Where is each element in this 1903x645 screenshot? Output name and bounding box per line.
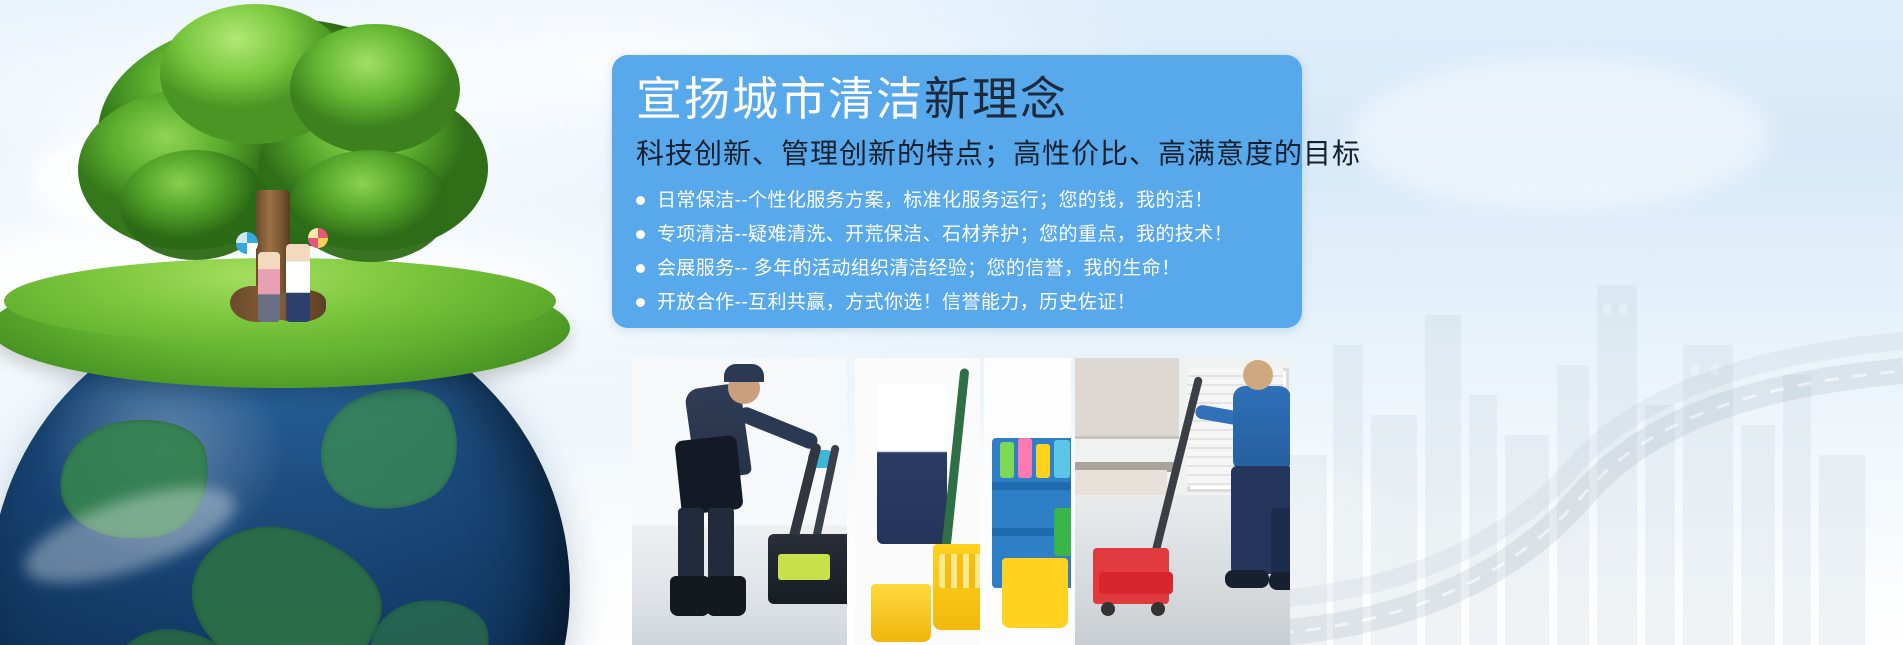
spray-bottle — [1054, 440, 1070, 478]
worker-torso — [1233, 386, 1290, 472]
list-item-label: 专项清洁--疑难清洗、开荒保洁、石材养护；您的重点，我的技术！ — [657, 221, 1233, 249]
photo-strip — [632, 358, 1290, 645]
worker-leg — [708, 508, 734, 582]
bucket-wheel — [1101, 602, 1115, 616]
machine-control-panel — [778, 554, 830, 580]
page-title: 宣扬城市清洁新理念 — [636, 72, 1436, 126]
worker-head — [1243, 360, 1273, 390]
bullet-dot-icon — [636, 264, 645, 273]
dustpan-icon — [1054, 508, 1071, 556]
worker-shoe — [1269, 572, 1290, 590]
worker-leg — [678, 508, 704, 582]
banner-stage: 宣扬城市清洁新理念 科技创新、管理创新的特点；高性价比、高满意度的目标 日常保洁… — [0, 0, 1903, 645]
worker-boot — [706, 576, 746, 616]
list-item: 会展服务-- 多年的活动组织清洁经验；您的信誉，我的生命！ — [636, 255, 1436, 283]
list-item-label: 会展服务-- 多年的活动组织清洁经验；您的信誉，我的生命！ — [657, 255, 1181, 283]
kitchen-cabinet — [1075, 358, 1179, 439]
pinwheel-icon — [236, 232, 258, 254]
earth-globe-illustration — [0, 0, 590, 645]
worker-shoe — [1225, 570, 1269, 588]
list-item: 日常保洁--个性化服务方案，标准化服务运行；您的钱，我的活！ — [636, 187, 1436, 215]
yellow-bucket — [871, 584, 931, 642]
child-figure — [258, 252, 280, 322]
tree-canopy — [290, 24, 460, 154]
pinwheel-icon — [308, 228, 328, 248]
mop-buckets-photo — [855, 358, 980, 645]
person-lower-body — [877, 384, 947, 544]
worker-boot — [670, 576, 710, 616]
list-item-label: 日常保洁--个性化服务方案，标准化服务运行；您的钱，我的活！ — [657, 187, 1214, 215]
title-rest: 新理念 — [924, 73, 1068, 125]
list-item: 专项清洁--疑难清洗、开荒保洁、石材养护；您的重点，我的技术！ — [636, 221, 1436, 249]
worker-cap — [724, 364, 764, 382]
worker-mopping-kitchen-photo — [1075, 358, 1290, 645]
page-subtitle: 科技创新、管理创新的特点；高性价比、高满意度的目标 — [636, 136, 1436, 172]
mop-head — [1099, 572, 1173, 594]
bucket-wringer — [939, 554, 980, 588]
continent-shape — [303, 368, 478, 532]
bucket-wheel — [1151, 602, 1165, 616]
bullet-dot-icon — [636, 230, 645, 239]
yellow-bucket — [1002, 558, 1068, 628]
worker-floor-scrubber-photo — [632, 358, 847, 645]
spray-bottle — [1036, 444, 1050, 478]
cleaning-cart-photo — [984, 358, 1071, 645]
worker-apron — [674, 435, 743, 515]
continent-shape — [364, 592, 497, 645]
child-figure — [286, 244, 310, 322]
worker-leg — [1271, 508, 1290, 580]
list-item-label: 开放合作--互利共赢，方式你选！信誉能力，历史佐证！ — [657, 289, 1136, 317]
spray-bottle — [1018, 438, 1032, 478]
list-item: 开放合作--互利共赢，方式你选！信誉能力，历史佐证！ — [636, 289, 1436, 317]
highway-road-icon — [1223, 315, 1903, 645]
spray-bottle — [1000, 442, 1014, 478]
bullet-dot-icon — [636, 196, 645, 205]
title-highlight: 宣扬城市清洁 — [636, 73, 924, 125]
bullet-dot-icon — [636, 298, 645, 307]
feature-list: 日常保洁--个性化服务方案，标准化服务运行；您的钱，我的活！ 专项清洁--疑难清… — [636, 187, 1436, 317]
cart-shelf — [992, 482, 1071, 490]
banner-text-block: 宣扬城市清洁新理念 科技创新、管理创新的特点；高性价比、高满意度的目标 日常保洁… — [636, 72, 1436, 317]
